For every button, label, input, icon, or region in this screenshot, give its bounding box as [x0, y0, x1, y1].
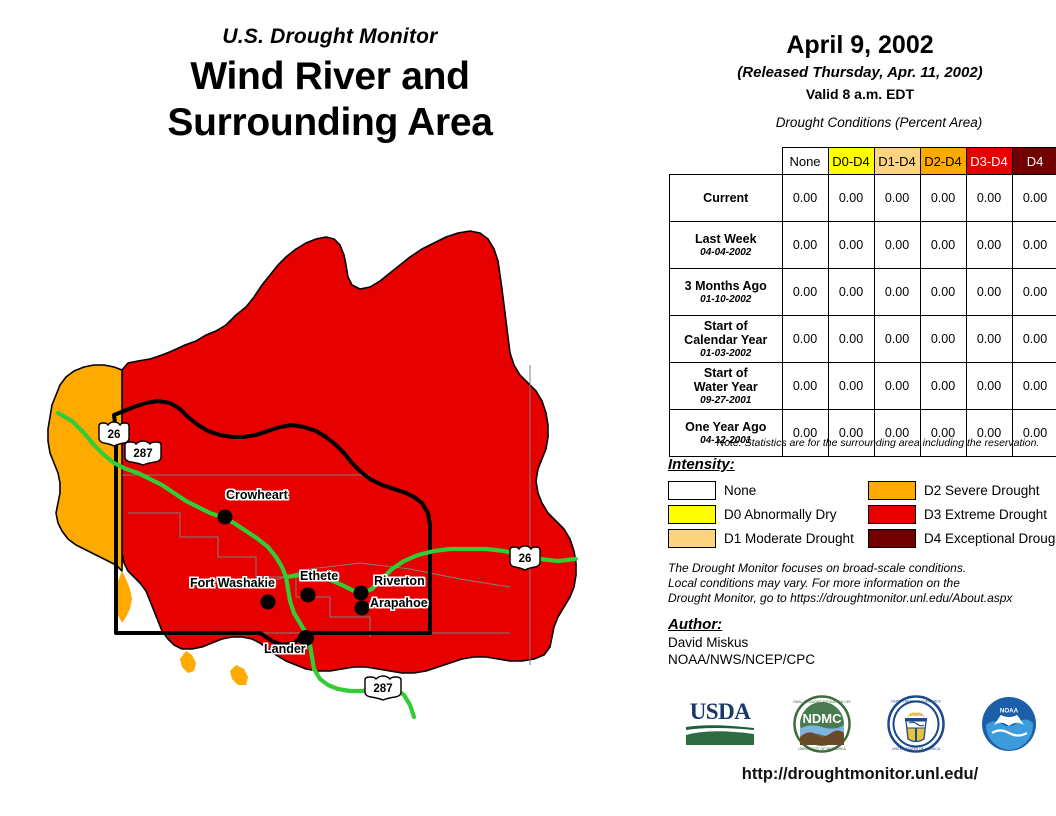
city-dot-riverton: [354, 586, 369, 601]
city-dot-arapahoe: [355, 601, 370, 616]
city-label-lander: Lander: [264, 642, 306, 656]
city-dot-crowheart: [218, 510, 233, 525]
legend-item-d0: D0 Abnormally Dry: [668, 505, 868, 524]
column-header-d2-d4: D2-D4: [920, 148, 966, 175]
table-body: Current 0.00 0.00 0.00 0.00 0.00 0.00 La…: [670, 175, 1056, 457]
intensity-legend-title: Intensity:: [668, 456, 1052, 473]
highway-shield-287-west: 287: [122, 440, 164, 466]
date-block: April 9, 2002 (Released Thursday, Apr. 1…: [664, 0, 1056, 104]
cell-3months-d4: 0.00: [1012, 269, 1056, 316]
cell-lastweek-d0d4: 0.00: [828, 222, 874, 269]
cell-3months-d0d4: 0.00: [828, 269, 874, 316]
author-title: Author:: [668, 615, 1056, 634]
report-date: April 9, 2002: [664, 30, 1056, 60]
legend-label-d4: D4 Exceptional Drought: [924, 531, 1056, 546]
intensity-legend: Intensity: None D2 Severe Drought D0 Abn…: [668, 456, 1052, 550]
footer-url: http://droughtmonitor.unl.edu/: [664, 765, 1056, 784]
cell-3months-d3d4: 0.00: [966, 269, 1012, 316]
swatch-d4-icon: [868, 529, 916, 548]
legend-item-d2: D2 Severe Drought: [868, 481, 1052, 500]
svg-text:287: 287: [373, 683, 392, 695]
column-header-d1-d4: D1-D4: [874, 148, 920, 175]
cell-oneyear-none: 0.00: [782, 410, 828, 457]
city-label-riverton: Riverton: [374, 574, 425, 588]
row-label-text: Start ofWater Year: [694, 366, 758, 394]
cell-current-d0d4: 0.00: [828, 175, 874, 222]
cell-wateryear-none: 0.00: [782, 363, 828, 410]
table-header-row: None D0-D4 D1-D4 D2-D4 D3-D4 D4: [670, 148, 1056, 175]
row-label-text: Last Week: [695, 232, 757, 246]
row-label-text: Current: [703, 191, 748, 205]
disclaimer-line-2: Local conditions may vary. For more info…: [668, 576, 1056, 591]
cell-current-d3d4: 0.00: [966, 175, 1012, 222]
table-note: Note: Statistics are for the surrounding…: [664, 437, 1056, 449]
row-label-text: Start ofCalendar Year: [684, 319, 767, 347]
row-label-start-water-year: Start ofWater Year 09-27-2001: [670, 363, 783, 410]
table-row: Start ofCalendar Year 01-03-2002 0.00 0.…: [670, 316, 1056, 363]
column-header-d4: D4: [1012, 148, 1056, 175]
cell-current-none: 0.00: [782, 175, 828, 222]
disclaimer-line-1: The Drought Monitor focuses on broad-sca…: [668, 561, 1056, 576]
region-d2-sliver: [116, 571, 132, 623]
cell-current-d2d4: 0.00: [920, 175, 966, 222]
row-label-date: 04-04-2002: [673, 247, 779, 259]
cell-lastweek-none: 0.00: [782, 222, 828, 269]
valid-time: Valid 8 a.m. EDT: [664, 84, 1056, 104]
drought-monitor-eyebrow: U.S. Drought Monitor: [0, 24, 660, 50]
table-row: 3 Months Ago 01-10-2002 0.00 0.00 0.00 0…: [670, 269, 1056, 316]
swatch-d2-icon: [868, 481, 916, 500]
cell-oneyear-d2d4: 0.00: [920, 410, 966, 457]
cell-wateryear-d2d4: 0.00: [920, 363, 966, 410]
region-d2-sliver-2: [180, 651, 196, 673]
table-header: None D0-D4 D1-D4 D2-D4 D3-D4 D4: [670, 148, 1056, 175]
column-header-d0-d4: D0-D4: [828, 148, 874, 175]
cell-oneyear-d4: 0.00: [1012, 410, 1056, 457]
highway-shield-26-east: 26: [507, 545, 543, 571]
city-label-crowheart: Crowheart: [226, 488, 288, 502]
table-row: One Year Ago 04-12-2001 0.00 0.00 0.00 0…: [670, 410, 1056, 457]
cell-calyear-d2d4: 0.00: [920, 316, 966, 363]
city-dot-fortwashakie: [261, 595, 276, 610]
svg-text:26: 26: [108, 429, 121, 441]
highway-shield-287-south: 287: [362, 675, 404, 701]
row-label-date: 09-27-2001: [673, 395, 779, 407]
cell-3months-d2d4: 0.00: [920, 269, 966, 316]
legend-label-d3: D3 Extreme Drought: [924, 507, 1047, 522]
column-header-d3-d4: D3-D4: [966, 148, 1012, 175]
region-d2-severe: [48, 365, 122, 571]
page-title-line1: Wind River and: [0, 54, 660, 100]
legend-label-d2: D2 Severe Drought: [924, 483, 1040, 498]
legend-label-d1: D1 Moderate Drought: [724, 531, 854, 546]
right-panel: April 9, 2002 (Released Thursday, Apr. 1…: [664, 0, 1056, 816]
legend-item-d1: D1 Moderate Drought: [668, 529, 868, 548]
row-label-3-months-ago: 3 Months Ago 01-10-2002: [670, 269, 783, 316]
cell-oneyear-d3d4: 0.00: [966, 410, 1012, 457]
cell-current-d1d4: 0.00: [874, 175, 920, 222]
cell-wateryear-d1d4: 0.00: [874, 363, 920, 410]
intensity-legend-grid: None D2 Severe Drought D0 Abnormally Dry…: [668, 478, 1052, 550]
row-label-date: 01-03-2002: [673, 348, 779, 360]
noaa-logo: NOAA: [980, 695, 1038, 753]
cell-3months-d1d4: 0.00: [874, 269, 920, 316]
table-corner-cell: [670, 148, 783, 175]
legend-item-d3: D3 Extreme Drought: [868, 505, 1052, 524]
page-title: Wind River and Surrounding Area: [0, 54, 660, 146]
cell-calyear-d0d4: 0.00: [828, 316, 874, 363]
title-block: U.S. Drought Monitor Wind River and Surr…: [0, 24, 660, 146]
row-label-current: Current: [670, 175, 783, 222]
ndmc-logo: NDMC NATIONAL DROUGHT MITIGATION CENTER …: [793, 695, 851, 753]
cell-lastweek-d3d4: 0.00: [966, 222, 1012, 269]
author-block: Author: David Miskus NOAA/NWS/NCEP/CPC: [668, 615, 1056, 668]
usdc-seal-logo: DEPARTMENT OF COMMERCE UNITED STATES OF …: [887, 695, 945, 753]
svg-text:NDMC: NDMC: [803, 711, 843, 726]
swatch-d3-icon: [868, 505, 916, 524]
disclaimer-line-3: Drought Monitor, go to https://droughtmo…: [668, 591, 1056, 606]
swatch-d1-icon: [668, 529, 716, 548]
city-label-fort-washakie: Fort Washakie: [190, 576, 275, 590]
cell-calyear-d4: 0.00: [1012, 316, 1056, 363]
city-label-ethete: Ethete: [300, 569, 338, 583]
svg-text:NATIONAL DROUGHT MITIGATION CE: NATIONAL DROUGHT MITIGATION CENTER: [793, 700, 851, 704]
city-label-arapahoe: Arapahoe: [370, 596, 428, 610]
cell-oneyear-d0d4: 0.00: [828, 410, 874, 457]
table-caption: Drought Conditions (Percent Area): [664, 115, 1056, 130]
swatch-d0-icon: [668, 505, 716, 524]
cell-wateryear-d3d4: 0.00: [966, 363, 1012, 410]
cell-lastweek-d2d4: 0.00: [920, 222, 966, 269]
svg-text:287: 287: [133, 448, 152, 460]
column-header-none: None: [782, 148, 828, 175]
disclaimer-text: The Drought Monitor focuses on broad-sca…: [668, 561, 1056, 606]
row-label-date: 01-10-2002: [673, 294, 779, 306]
svg-text:UNITED STATES OF AMERICA: UNITED STATES OF AMERICA: [892, 747, 941, 751]
author-name: David Miskus: [668, 634, 1056, 651]
cell-calyear-none: 0.00: [782, 316, 828, 363]
usda-logo: USDA: [682, 697, 758, 751]
legend-label-d0: D0 Abnormally Dry: [724, 507, 837, 522]
svg-text:UNIVERSITY OF NEBRASKA: UNIVERSITY OF NEBRASKA: [798, 747, 847, 751]
legend-label-none: None: [724, 483, 756, 498]
svg-text:USDA: USDA: [689, 699, 751, 724]
cell-wateryear-d4: 0.00: [1012, 363, 1056, 410]
author-affiliation: NOAA/NWS/NCEP/CPC: [668, 651, 1056, 668]
legend-item-none: None: [668, 481, 868, 500]
svg-text:DEPARTMENT OF COMMERCE: DEPARTMENT OF COMMERCE: [891, 700, 941, 704]
legend-item-d4: D4 Exceptional Drought: [868, 529, 1052, 548]
cell-lastweek-d1d4: 0.00: [874, 222, 920, 269]
row-label-text: 3 Months Ago: [685, 279, 767, 293]
table-row: Current 0.00 0.00 0.00 0.00 0.00 0.00: [670, 175, 1056, 222]
release-date: (Released Thursday, Apr. 11, 2002): [664, 62, 1056, 83]
table-row: Start ofWater Year 09-27-2001 0.00 0.00 …: [670, 363, 1056, 410]
cell-wateryear-d0d4: 0.00: [828, 363, 874, 410]
drought-conditions-table: None D0-D4 D1-D4 D2-D4 D3-D4 D4 Current …: [669, 147, 1056, 457]
region-d3-extreme: [122, 231, 576, 673]
partner-logos: USDA NDMC NATIONAL DROUGHT MITIGATION CE…: [664, 688, 1056, 760]
region-d2-sliver-3: [230, 665, 248, 685]
svg-text:NOAA: NOAA: [1000, 708, 1019, 715]
swatch-none-icon: [668, 481, 716, 500]
table-row: Last Week 04-04-2002 0.00 0.00 0.00 0.00…: [670, 222, 1056, 269]
city-dot-ethete: [301, 588, 316, 603]
row-label-start-calendar-year: Start ofCalendar Year 01-03-2002: [670, 316, 783, 363]
cell-calyear-d1d4: 0.00: [874, 316, 920, 363]
drought-map: Crowheart Fort Washakie Ethete Riverton …: [10, 165, 660, 725]
cell-lastweek-d4: 0.00: [1012, 222, 1056, 269]
row-label-one-year-ago: One Year Ago 04-12-2001: [670, 410, 783, 457]
cell-3months-none: 0.00: [782, 269, 828, 316]
cell-oneyear-d1d4: 0.00: [874, 410, 920, 457]
cell-calyear-d3d4: 0.00: [966, 316, 1012, 363]
page-title-line2: Surrounding Area: [0, 100, 660, 146]
row-label-text: One Year Ago: [685, 420, 766, 434]
row-label-last-week: Last Week 04-04-2002: [670, 222, 783, 269]
cell-current-d4: 0.00: [1012, 175, 1056, 222]
svg-text:26: 26: [519, 553, 532, 565]
